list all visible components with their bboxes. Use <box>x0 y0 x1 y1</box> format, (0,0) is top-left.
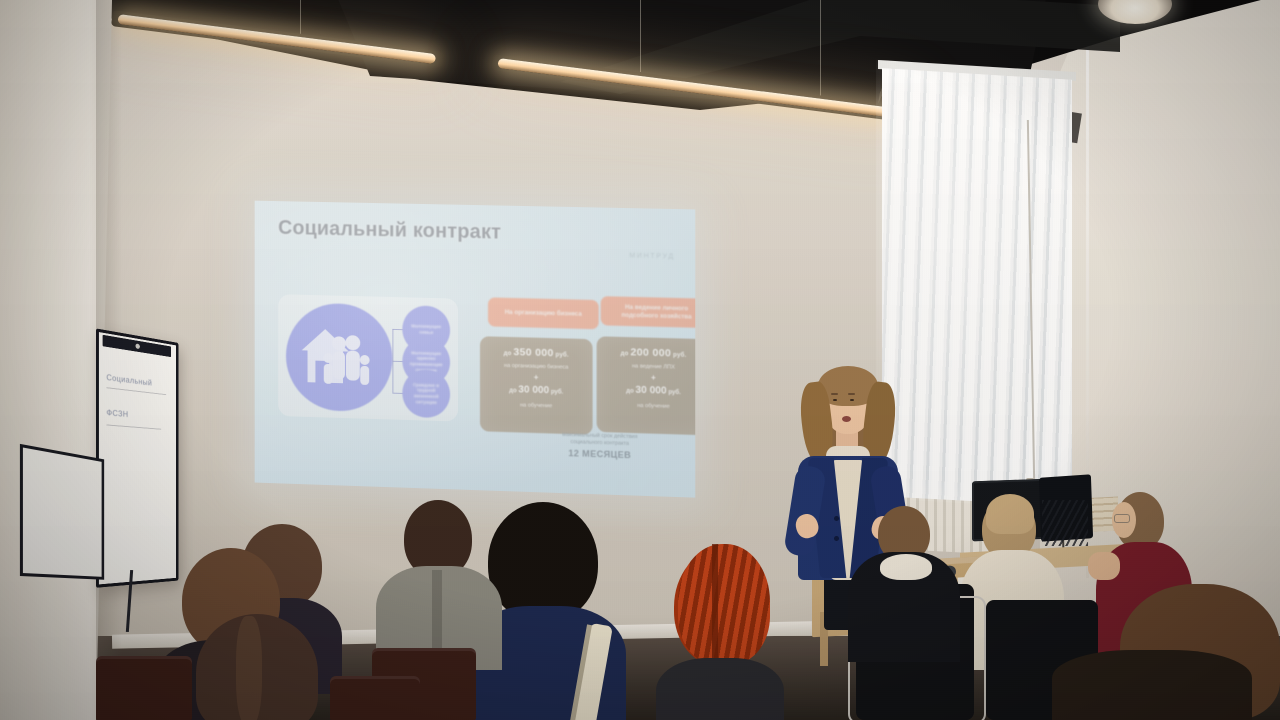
amount2-purpose: на обучение <box>597 402 696 411</box>
house-family-icon <box>296 316 379 394</box>
amount2-prefix: до <box>509 388 517 394</box>
torso <box>656 658 784 720</box>
slide-footer: максимальный срок действия социального к… <box>514 430 686 462</box>
jacket-button-1 <box>834 516 839 521</box>
presenter-brow-right <box>848 393 855 395</box>
amount-value: 200 000 <box>630 346 671 359</box>
jacket-button-2 <box>834 536 839 541</box>
flipchart-rule <box>106 387 166 395</box>
amount2-purpose: на обучение <box>480 401 593 410</box>
hair <box>488 502 598 622</box>
chair-back-5 <box>330 676 420 720</box>
braided-hair <box>678 544 770 664</box>
hair-highlight <box>236 616 262 720</box>
lecture-room-photo: Социальный ФСЗН Социальный контракт МИНТ… <box>0 0 1280 720</box>
plus-sign: + <box>480 371 593 383</box>
node-label-3: Граждане в трудной жизненной ситуации <box>402 382 450 406</box>
amount-card-business: до 350 000 руб. на организацию бизнеса +… <box>480 336 593 435</box>
wall-framed-board <box>20 444 104 580</box>
presenter-mouth <box>842 416 851 422</box>
hair-part <box>712 544 718 660</box>
node-label-1: Малоимущие семьи <box>402 324 450 336</box>
projection-screen[interactable]: Социальный контракт МИНТРУД Малоимущ <box>255 201 696 498</box>
amount-unit: руб. <box>673 352 686 358</box>
amount-card-household: до 200 000 руб. на ведение ЛПХ + до 30 0… <box>597 336 696 435</box>
amount-line-1: до 200 000 руб. <box>597 345 696 360</box>
plus-sign: + <box>597 371 696 383</box>
amount2-value: 30 000 <box>635 385 666 397</box>
flipchart-note-2: ФСЗН <box>106 408 128 419</box>
flipchart-board[interactable]: Социальный ФСЗН <box>96 328 178 587</box>
amount-line-1: до 350 000 руб. <box>480 345 593 360</box>
amount-purpose: на организацию бизнеса <box>480 362 593 371</box>
amount-line-2: до 30 000 руб. <box>480 383 593 397</box>
node-circle-3: Граждане в трудной жизненной ситуации <box>402 369 450 418</box>
amount-prefix: до <box>621 351 629 357</box>
amount2-prefix: до <box>626 388 634 394</box>
collar <box>880 554 932 580</box>
lamp-hanger-wire <box>820 0 821 96</box>
chair-back-4 <box>96 656 192 720</box>
slide-title: Социальный контракт <box>278 217 501 245</box>
torso <box>1052 650 1252 720</box>
presenter-brow-left <box>831 393 838 395</box>
amount-value: 350 000 <box>513 346 553 359</box>
amount-purpose: на ведение ЛПХ <box>597 362 696 371</box>
connector-spine <box>392 329 393 393</box>
slide-logo-watermark: МИНТРУД <box>629 252 675 260</box>
pill-business: На организацию бизнеса <box>488 297 599 329</box>
amount-prefix: до <box>504 351 512 357</box>
amount-line-2: до 30 000 руб. <box>597 384 696 398</box>
flipchart-rule <box>106 424 161 429</box>
amount2-unit: руб. <box>668 390 681 396</box>
pill-household: На ведение личного подсобного хозяйства <box>601 296 696 328</box>
hair <box>986 494 1034 534</box>
glasses-icon <box>1114 514 1130 523</box>
amount2-unit: руб. <box>551 389 563 395</box>
hands <box>1088 552 1120 580</box>
desk-cables <box>1042 500 1088 546</box>
lamp-hanger-wire <box>300 0 301 34</box>
amount-unit: руб. <box>556 352 569 358</box>
amount2-value: 30 000 <box>518 384 549 396</box>
lamp-hanger-wire <box>640 0 641 72</box>
slide-info-card: Малоимущие семьи Малоимущие одиноко прож… <box>278 294 458 421</box>
flipchart-note-1: Социальный <box>106 373 152 388</box>
